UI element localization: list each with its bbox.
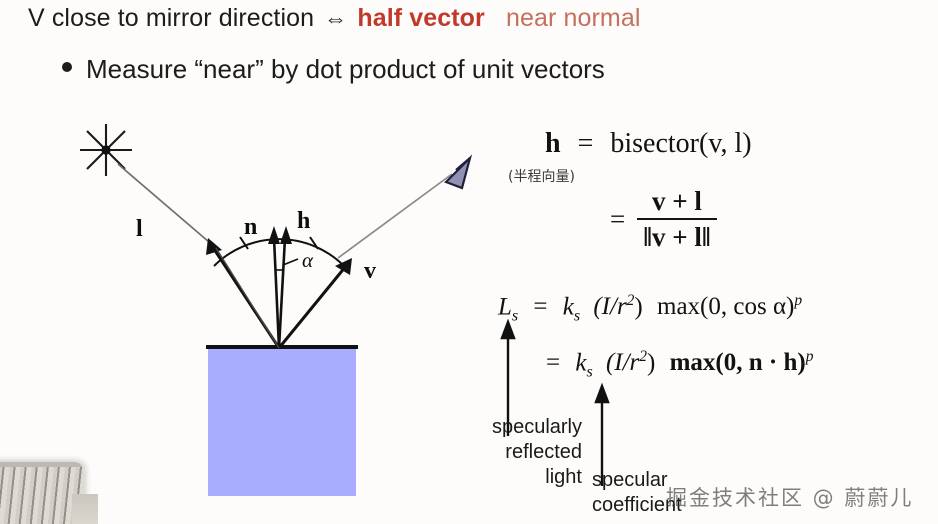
vector-v-arrow	[279, 258, 352, 348]
eq-ls-equals: =	[524, 293, 556, 320]
eq-ls2-exponent: p	[806, 348, 814, 365]
title-lead-text: V close to mirror direction	[28, 4, 314, 32]
vector-h-arrow	[279, 226, 292, 348]
corner-photo-artifact	[0, 462, 84, 524]
annotation-specularly-reflected-light: specularly reflected light	[462, 415, 582, 490]
eq-ls-k: k	[563, 293, 574, 320]
eq-h-equals: =	[568, 128, 604, 159]
fraction-denominator: ‖v + l‖	[637, 220, 716, 252]
diagram-svg	[70, 108, 490, 508]
title-accent-near-normal: near normal	[506, 4, 641, 32]
title-accent-half-vector: half vector	[357, 4, 485, 32]
eq-h-rhs: bisector(v, l)	[610, 128, 751, 159]
eq-ls-falloff-close: )	[634, 293, 642, 320]
reflection-diagram: l n h v α	[70, 108, 490, 508]
arrow-to-ks-head	[596, 386, 608, 402]
label-vector-v: v	[364, 258, 376, 285]
alpha-bracket	[275, 259, 298, 270]
outgoing-view-ray	[338, 174, 452, 258]
fraction: v + l ‖v + l‖	[637, 186, 716, 252]
label-vector-h: h	[297, 208, 310, 235]
bullet-dot-icon	[62, 62, 72, 72]
watermark-text: 掘金技术社区 @ 蔚蔚儿	[666, 482, 913, 512]
iff-symbol-icon: ⇔	[321, 5, 350, 31]
eq-ls-max-term: max(0, cos α)	[649, 293, 794, 320]
arrow-to-Ls-head	[502, 322, 514, 338]
eq-h-lhs: h	[545, 128, 561, 159]
ray-to-surface-point	[216, 248, 279, 348]
label-vector-l: l	[136, 216, 143, 243]
eq-frac-equals: =	[610, 204, 625, 235]
eq-ls-exponent: p	[794, 292, 802, 309]
fraction-numerator: v + l	[646, 186, 708, 218]
label-angle-alpha: α	[302, 248, 313, 273]
label-vector-n: n	[244, 214, 257, 241]
vector-n-arrow	[268, 226, 280, 348]
chinese-annotation-half-vector: (半程向量)	[508, 166, 575, 186]
bullet-line: Measure “near” by dot product of unit ve…	[62, 52, 605, 86]
equation-h-fraction: = v + l ‖v + l‖	[610, 186, 717, 252]
eq-ls-falloff: (I/r	[586, 293, 626, 320]
slide-canvas: V close to mirror direction ⇔ half vecto…	[0, 0, 938, 524]
eq-ls2-max-term: max(0, n · h)	[662, 349, 806, 376]
eq-ls-lhs: L	[498, 293, 512, 320]
incoming-light-ray	[118, 164, 216, 248]
slide-title: V close to mirror direction ⇔ half vecto…	[28, 2, 641, 34]
surface-slab	[208, 348, 356, 496]
bullet-text: Measure “near” by dot product of unit ve…	[86, 52, 605, 86]
eye-icon	[446, 158, 470, 188]
equation-h-definition: h = bisector(v, l)	[545, 128, 752, 160]
light-source-dot	[101, 145, 110, 154]
